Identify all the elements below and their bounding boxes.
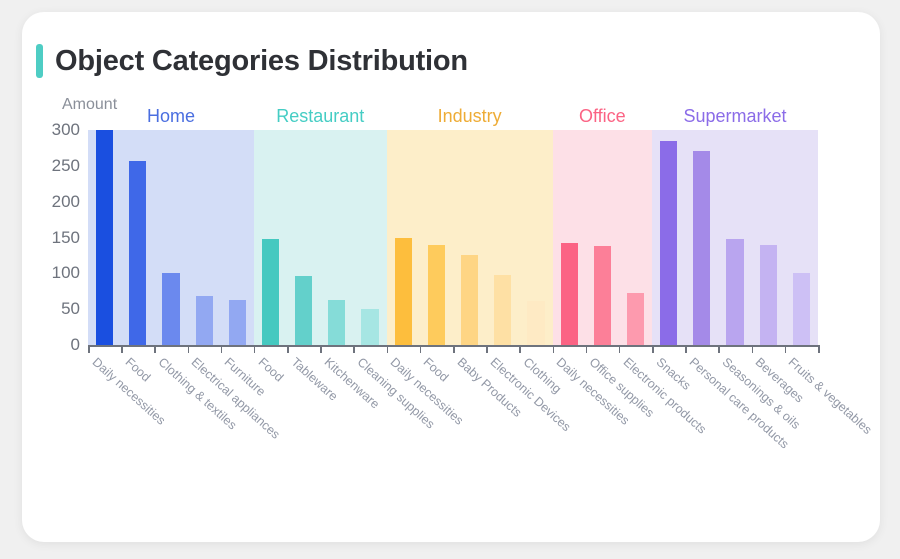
group-label-office: Office (579, 106, 626, 127)
group-label-home: Home (147, 106, 195, 127)
bar[interactable] (760, 245, 777, 345)
x-axis-tick-mark (685, 346, 687, 353)
bar[interactable] (627, 293, 644, 345)
bar[interactable] (196, 296, 213, 345)
group-label-restaurant: Restaurant (276, 106, 364, 127)
y-axis-tick-label: 100 (36, 263, 80, 283)
bar[interactable] (328, 300, 345, 345)
chart-card: Object Categories Distribution Amount 05… (22, 12, 880, 542)
x-axis-tick-mark (619, 346, 621, 353)
x-axis-tick-mark (453, 346, 455, 353)
bar[interactable] (129, 161, 146, 345)
x-axis-tick-mark (785, 346, 787, 353)
x-axis-tick-mark (652, 346, 654, 353)
bar[interactable] (229, 300, 246, 345)
bar[interactable] (395, 238, 412, 346)
bar[interactable] (793, 273, 810, 345)
bar[interactable] (561, 243, 578, 345)
x-axis-tick-mark (154, 346, 156, 353)
bar[interactable] (726, 239, 743, 345)
x-axis-tick-mark (718, 346, 720, 353)
x-axis-tick-mark (818, 346, 820, 353)
x-axis-tick-mark (387, 346, 389, 353)
bar[interactable] (361, 309, 378, 345)
x-axis-tick-mark (752, 346, 754, 353)
bar[interactable] (527, 301, 544, 345)
x-axis-tick-mark (586, 346, 588, 353)
x-axis-tick-mark (320, 346, 322, 353)
bar[interactable] (162, 273, 179, 345)
bar[interactable] (660, 141, 677, 345)
y-axis-title: Amount (62, 96, 117, 114)
bar[interactable] (594, 246, 611, 345)
x-axis-tick-mark (553, 346, 555, 353)
x-axis-tick-mark (287, 346, 289, 353)
y-axis-tick-label: 50 (36, 299, 80, 319)
bar[interactable] (428, 245, 445, 345)
chart-plot-area: Amount 050100150200250300HomeDaily neces… (22, 12, 880, 542)
bar[interactable] (295, 276, 312, 345)
bar[interactable] (461, 255, 478, 345)
bar[interactable] (262, 239, 279, 345)
x-axis-tick-mark (420, 346, 422, 353)
x-axis-tick-mark (88, 346, 90, 353)
y-axis-tick-label: 250 (36, 156, 80, 176)
group-label-industry: Industry (438, 106, 502, 127)
x-axis-tick-mark (188, 346, 190, 353)
group-label-supermarket: Supermarket (684, 106, 787, 127)
bar[interactable] (693, 151, 710, 345)
bar[interactable] (494, 275, 511, 345)
x-axis-tick-mark (254, 346, 256, 353)
x-axis-tick-mark (486, 346, 488, 353)
y-axis-tick-label: 300 (36, 120, 80, 140)
x-axis-tick-mark (221, 346, 223, 353)
x-axis-tick-mark (121, 346, 123, 353)
y-axis-tick-label: 200 (36, 192, 80, 212)
bar[interactable] (96, 130, 113, 345)
x-axis-tick-mark (519, 346, 521, 353)
y-axis-tick-label: 150 (36, 228, 80, 248)
x-axis-tick-mark (353, 346, 355, 353)
y-axis-tick-label: 0 (36, 335, 80, 355)
